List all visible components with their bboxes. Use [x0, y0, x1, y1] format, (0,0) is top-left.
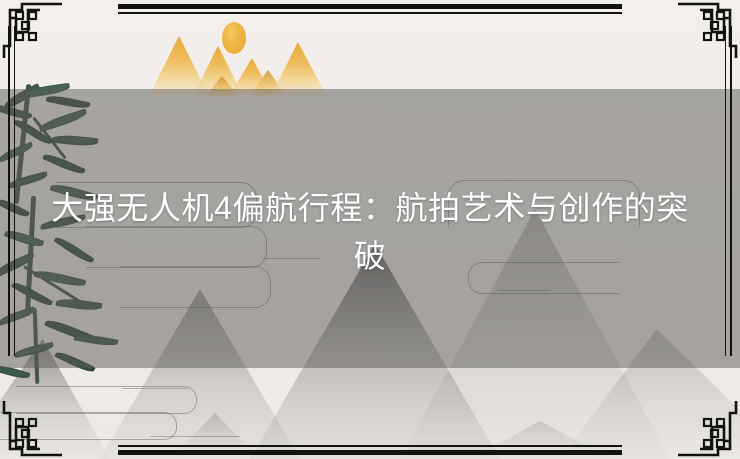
- frame-right-rule-thin: [725, 26, 726, 356]
- chinese-fret-corner-ornament: [674, 397, 740, 459]
- frame-bottom-bar-thin: [118, 445, 622, 447]
- line-ornament: [122, 388, 188, 389]
- chinese-fret-corner-ornament: [0, 397, 66, 459]
- frame-top-bar: [118, 4, 622, 9]
- frame-bottom-bar: [118, 450, 622, 455]
- gold-mountain-illustration: [140, 18, 330, 98]
- frame-left-rule: [8, 26, 10, 356]
- frame-right-rule: [730, 26, 732, 356]
- frame-top-bar-thin: [118, 12, 622, 14]
- poster-canvas: 大强无人机4偏航行程：航拍艺术与创作的突破: [0, 0, 740, 459]
- chinese-fret-corner-ornament: [674, 0, 740, 62]
- chinese-fret-corner-ornament: [0, 0, 66, 62]
- frame-left-rule-thin: [14, 26, 15, 356]
- page-title: 大强无人机4偏航行程：航拍艺术与创作的突破: [40, 184, 700, 280]
- line-ornament: [150, 436, 240, 437]
